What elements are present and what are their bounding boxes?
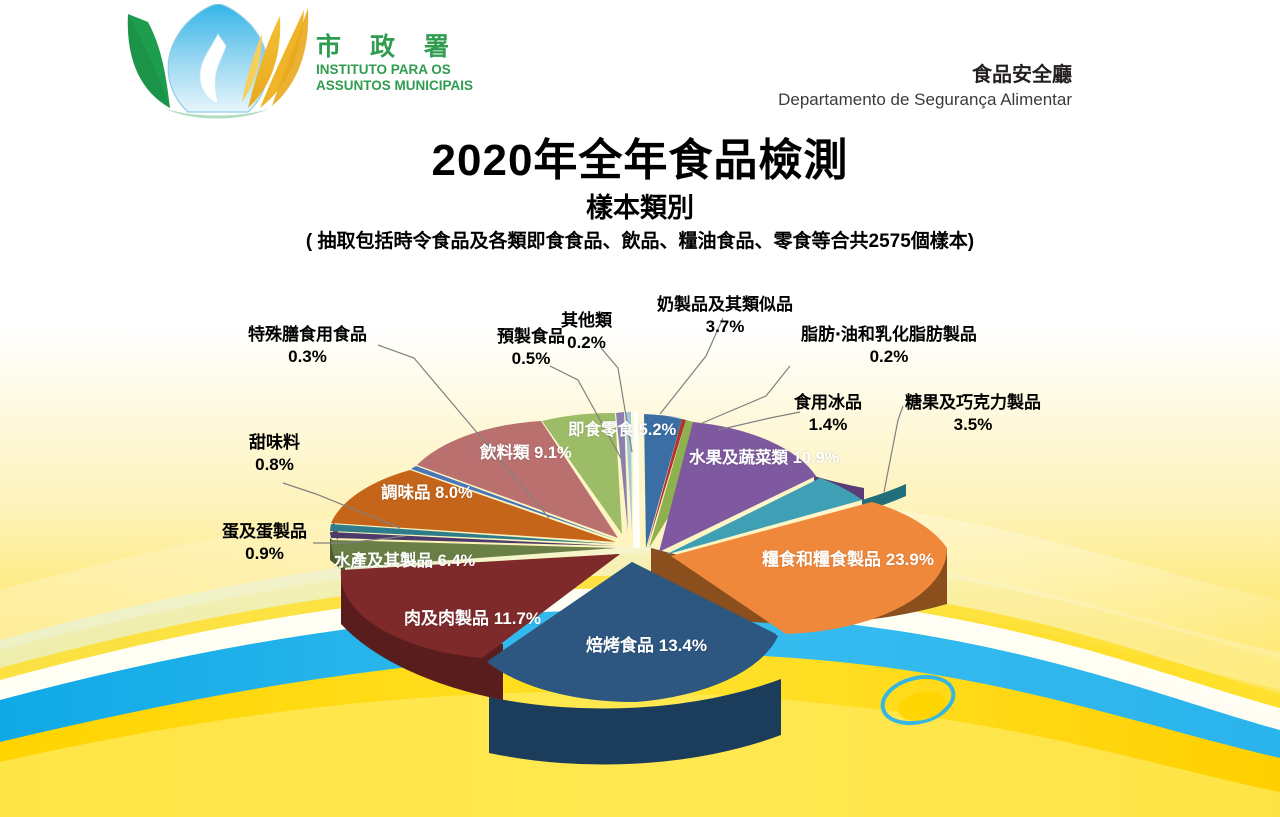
logo-chinese-name: 市 政 署: [316, 32, 496, 62]
inlabel-fruit-vegetables: 水果及蔬菜類 10.9%: [689, 448, 839, 469]
logo-portuguese-line1: INSTITUTO PARA OS: [316, 62, 496, 78]
inlabel-value-fruit-vegetables: 10.9%: [793, 449, 840, 467]
inlabel-meat: 肉及肉製品 11.7%: [404, 607, 541, 630]
department-name-chinese: 食品安全廳: [778, 62, 1072, 88]
callout-value-edible-ice: 1.4%: [794, 414, 862, 436]
inlabel-value-condiments: 8.0%: [435, 484, 473, 502]
callout-label-dairy: 奶製品及其類似品: [657, 295, 793, 314]
inlabel-condiments: 調味品 8.0%: [381, 483, 473, 504]
callout-confectionery: 糖果及巧克力製品 3.5%: [905, 392, 1041, 436]
callout-label-edible-ice: 食用冰品: [794, 393, 862, 412]
inlabel-aquatic-products: 水產及其製品 6.4%: [334, 551, 475, 572]
inlabel-ready-to-eat-snacks: 即食零食 5.2%: [568, 420, 676, 441]
callout-value-sweeteners: 0.8%: [249, 454, 300, 476]
sample-note: ( 抽取包括時令食品及各類即食食品、飲品、糧油食品、零食等合共2575個樣本): [0, 229, 1280, 255]
callout-dairy: 奶製品及其類似品 3.7%: [657, 294, 793, 338]
inlabel-label-baked-goods: 焙烤食品: [586, 636, 654, 655]
callout-value-fats-oils: 0.2%: [801, 346, 977, 368]
callout-edible-ice: 食用冰品 1.4%: [794, 392, 862, 436]
inlabel-label-ready-to-eat-snacks: 即食零食: [568, 421, 634, 439]
organization-logo: 市 政 署 INSTITUTO PARA OS ASSUNTOS MUNICIP…: [120, 4, 490, 124]
callout-special-dietary: 特殊膳食用食品 0.3%: [248, 324, 367, 368]
inlabel-label-beverages: 飲料類: [480, 444, 530, 462]
inlabel-label-aquatic-products: 水產及其製品: [334, 552, 433, 570]
callout-value-eggs: 0.9%: [222, 543, 307, 565]
inlabel-value-ready-to-eat-snacks: 5.2%: [639, 421, 677, 439]
department-header: 食品安全廳 Departamento de Segurança Alimenta…: [778, 62, 1072, 112]
poster-canvas: 市 政 署 INSTITUTO PARA OS ASSUNTOS MUNICIP…: [0, 0, 1280, 817]
iam-lotus-logo-icon: [120, 4, 310, 122]
callout-label-others: 其他類: [561, 311, 612, 330]
callout-label-confectionery: 糖果及巧克力製品: [905, 393, 1041, 412]
callout-label-fats-oils: 脂肪‧油和乳化脂肪製品: [801, 325, 977, 344]
inlabel-value-baked-goods: 13.4%: [659, 636, 707, 655]
callout-value-prepared-foods: 0.5%: [497, 348, 565, 370]
inlabel-baked-goods: 焙烤食品 13.4%: [586, 634, 707, 657]
inlabel-label-meat: 肉及肉製品: [404, 609, 489, 628]
callout-value-special-dietary: 0.3%: [248, 346, 367, 368]
leader-edible-ice: [718, 412, 800, 430]
callout-value-confectionery: 3.5%: [905, 414, 1041, 436]
department-name-portuguese: Departamento de Segurança Alimentar: [778, 88, 1072, 112]
callout-label-prepared-foods: 預製食品: [497, 327, 565, 346]
inlabel-label-condiments: 調味品: [381, 484, 431, 502]
callout-label-sweeteners: 甜味料: [249, 433, 300, 452]
logo-portuguese-line2: ASSUNTOS MUNICIPAIS: [316, 78, 496, 94]
inlabel-label-cereals: 糧食和糧食製品: [762, 550, 881, 569]
callout-eggs: 蛋及蛋製品 0.9%: [222, 521, 307, 565]
inlabel-value-cereals: 23.9%: [886, 550, 934, 569]
leader-confectionery: [884, 406, 903, 492]
callout-value-others: 0.2%: [561, 332, 612, 354]
callout-value-dairy: 3.7%: [657, 316, 793, 338]
callout-prepared-foods: 預製食品 0.5%: [497, 326, 565, 370]
inlabel-label-fruit-vegetables: 水果及蔬菜類: [689, 449, 788, 467]
inlabel-value-aquatic-products: 6.4%: [438, 552, 476, 570]
page-subtitle: 樣本類別: [0, 190, 1280, 226]
callout-fats-oils: 脂肪‧油和乳化脂肪製品 0.2%: [801, 324, 977, 368]
inlabel-cereals: 糧食和糧食製品 23.9%: [762, 548, 934, 571]
title-block: 2020年全年食品檢測 樣本類別 ( 抽取包括時令食品及各類即食食品、飲品、糧油…: [0, 136, 1280, 255]
callout-label-special-dietary: 特殊膳食用食品: [248, 325, 367, 344]
logo-wordmark: 市 政 署 INSTITUTO PARA OS ASSUNTOS MUNICIP…: [316, 32, 496, 94]
inlabel-beverages: 飲料類 9.1%: [480, 443, 572, 464]
callout-sweeteners: 甜味料 0.8%: [249, 432, 300, 476]
inlabel-value-meat: 11.7%: [494, 609, 541, 628]
callout-label-eggs: 蛋及蛋製品: [222, 522, 307, 541]
callout-others: 其他類 0.2%: [561, 310, 612, 354]
page-title: 2020年全年食品檢測: [0, 136, 1280, 186]
leader-fats-oils: [700, 366, 790, 424]
inlabel-value-beverages: 9.1%: [534, 444, 572, 462]
